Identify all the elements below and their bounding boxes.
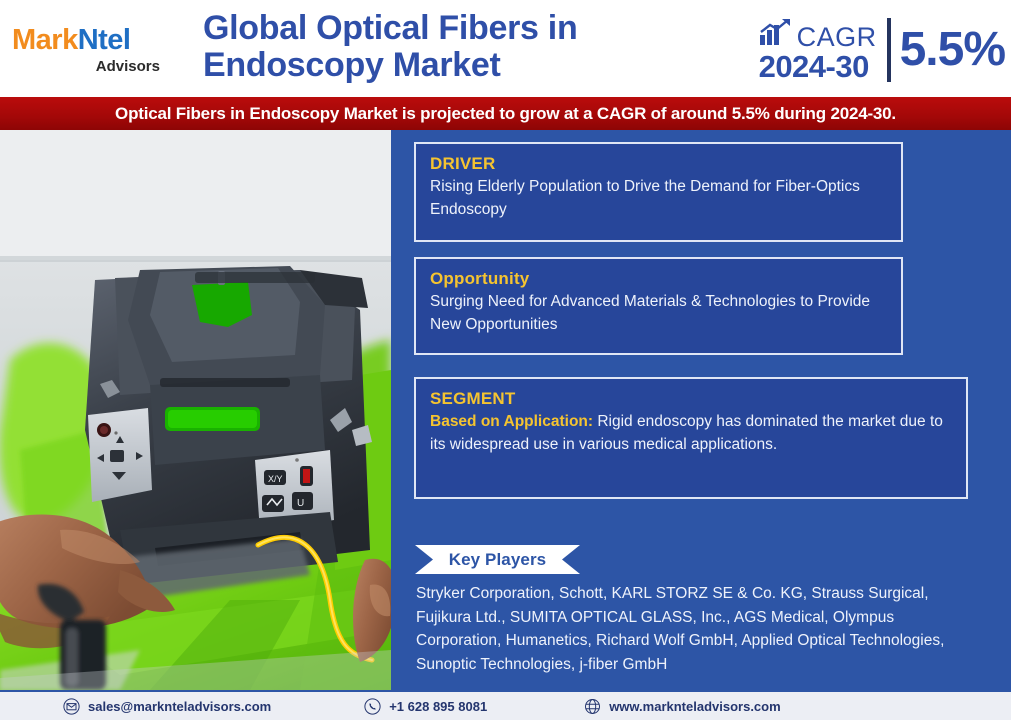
cagr-badge: CAGR 2024-30 5.5% [759,14,1005,86]
logo-part-ntel: Ntel [78,24,131,56]
cagr-period: 2024-30 [759,51,869,82]
logo-wordmark: MarkNtel [12,26,164,55]
footer-website-text: www.marknteladvisors.com [609,699,780,714]
driver-body: Rising Elderly Population to Drive the D… [430,176,887,222]
segment-heading: SEGMENT [430,388,952,409]
key-players-ribbon: Key Players [415,545,580,574]
phone-icon [364,698,381,715]
infographic-page: MarkNtel Advisors Global Optical Fibers … [0,0,1011,720]
key-players-ribbon-label: Key Players [415,545,580,574]
globe-icon [584,698,601,715]
cagr-divider [887,18,891,82]
driver-heading: DRIVER [430,153,887,174]
envelope-icon [63,698,80,715]
segment-box-inner: SEGMENT Based on Application: Rigid endo… [416,379,966,468]
opportunity-box-inner: Opportunity Surging Need for Advanced Ma… [416,259,901,348]
bar-chart-growth-icon [759,18,793,51]
info-panel: DRIVER Rising Elderly Population to Driv… [391,130,1011,690]
opportunity-heading: Opportunity [430,268,887,289]
driver-box: DRIVER Rising Elderly Population to Driv… [414,142,903,242]
hero-photo: X/Y U [0,130,391,690]
page-title: Global Optical Fibers in Endoscopy Marke… [203,10,703,85]
footer-website[interactable]: www.marknteladvisors.com [584,698,780,715]
cagr-left-group: CAGR 2024-30 [759,18,887,82]
brand-logo: MarkNtel Advisors [12,26,164,74]
logo-subtitle: Advisors [12,59,164,74]
cagr-label: CAGR [797,25,877,51]
headline-banner-text: Optical Fibers in Endoscopy Market is pr… [115,104,896,124]
footer-phone[interactable]: +1 628 895 8081 [364,698,487,715]
footer-email-text: sales@marknteladvisors.com [88,699,271,714]
opportunity-box: Opportunity Surging Need for Advanced Ma… [414,257,903,355]
svg-text:U: U [297,498,304,509]
footer-phone-text: +1 628 895 8081 [389,699,487,714]
cagr-value: 5.5% [900,26,1005,74]
footer-email[interactable]: sales@marknteladvisors.com [63,698,271,715]
segment-body: Based on Application: Rigid endoscopy ha… [430,411,952,457]
driver-box-inner: DRIVER Rising Elderly Population to Driv… [416,144,901,233]
segment-box: SEGMENT Based on Application: Rigid endo… [414,377,968,499]
key-players-list: Stryker Corporation, Schott, KARL STORZ … [416,582,976,676]
header: MarkNtel Advisors Global Optical Fibers … [0,0,1011,97]
segment-basis-label: Based on Application: [430,413,593,430]
main-content: X/Y U [0,130,1011,690]
svg-text:X/Y: X/Y [268,474,283,484]
logo-part-mark: Mark [12,24,78,56]
footer: sales@marknteladvisors.com +1 628 895 80… [0,690,1011,720]
opportunity-body: Surging Need for Advanced Materials & Te… [430,291,887,337]
headline-banner: Optical Fibers in Endoscopy Market is pr… [0,97,1011,130]
cagr-label-row: CAGR [759,18,877,51]
